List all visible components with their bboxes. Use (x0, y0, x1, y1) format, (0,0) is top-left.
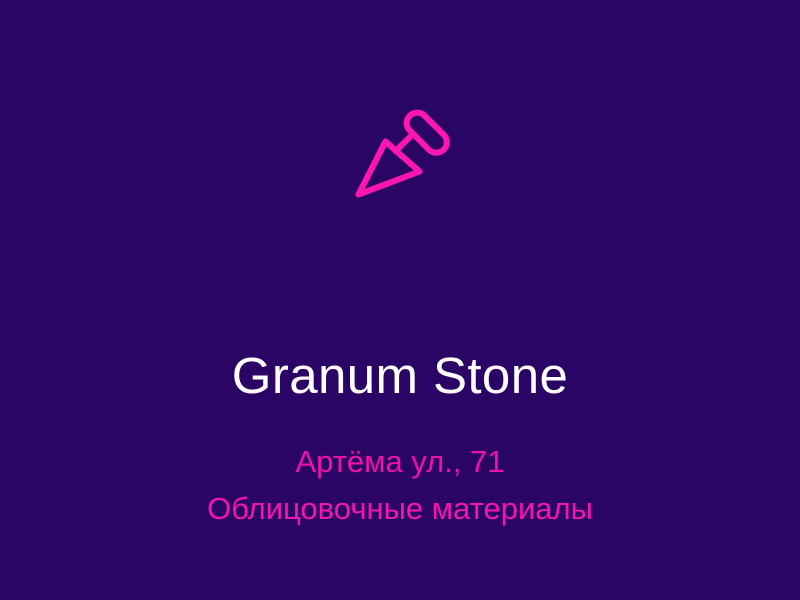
company-name: Granum Stone (0, 345, 800, 407)
detail-address: Артёма ул., 71 (0, 438, 800, 485)
details-list: Артёма ул., 71 Облицовочные материалы (0, 438, 800, 532)
detail-category: Облицовочные материалы (0, 485, 800, 532)
card-text-block: Granum Stone Артёма ул., 71 Облицовочные… (0, 345, 800, 532)
trowel-icon (348, 101, 452, 205)
business-card: Granum Stone Артёма ул., 71 Облицовочные… (0, 0, 800, 600)
logo-container (0, 95, 800, 210)
